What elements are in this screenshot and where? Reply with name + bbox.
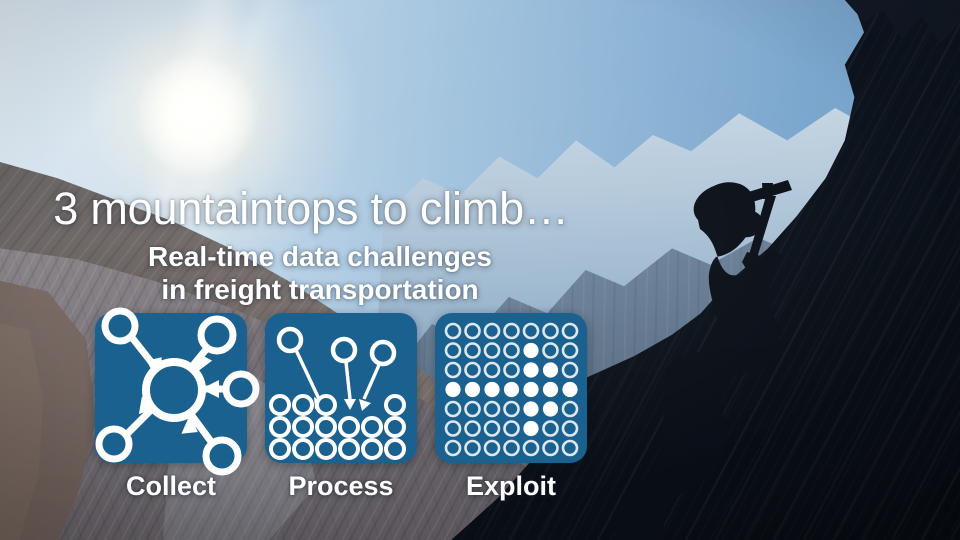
card-collect[interactable]: Collect [95,313,247,502]
subtitle-line-1: Real-time data challenges [0,240,614,273]
step-cards: Collect [95,313,587,502]
title-block: 3 mountaintops to climb… Real-time data … [0,186,614,306]
arrow-dot-matrix-icon [435,313,587,463]
card-collect-tile[interactable] [95,313,247,463]
card-exploit[interactable]: Exploit [435,313,587,502]
funnel-into-grid-icon [265,313,417,463]
card-label-exploit: Exploit [466,471,556,502]
card-process[interactable]: Process [265,313,417,502]
card-label-process: Process [288,471,393,502]
card-label-collect: Collect [126,471,216,502]
presentation-slide: 3 mountaintops to climb… Real-time data … [0,0,960,540]
card-exploit-tile[interactable] [435,313,587,463]
hub-and-spoke-network-icon [95,313,247,463]
card-process-tile[interactable] [265,313,417,463]
page-title: 3 mountaintops to climb… [0,186,614,231]
subtitle-line-2: in freight transportation [0,273,614,306]
